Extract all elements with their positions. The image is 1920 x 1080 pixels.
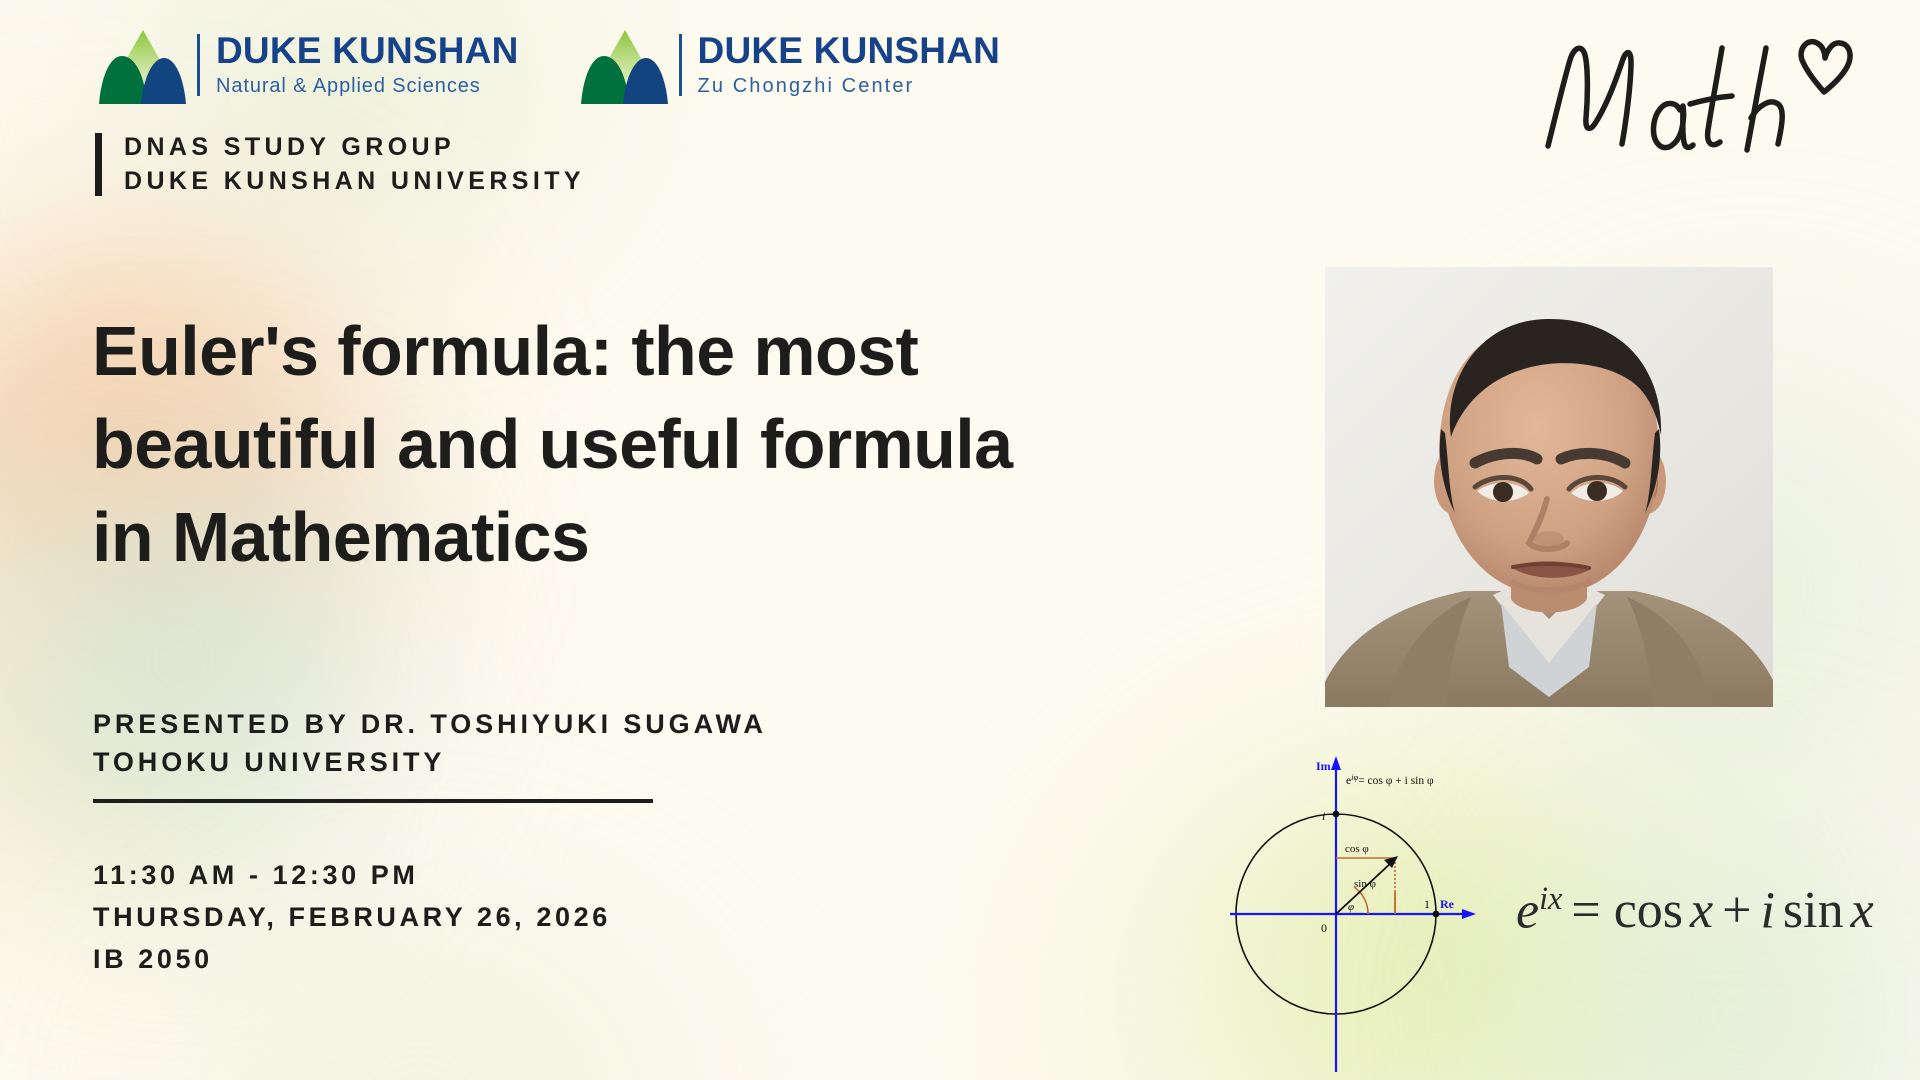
kicker-line-university: DUKE KUNSHAN UNIVERSITY (124, 167, 585, 196)
label-origin: 0 (1321, 921, 1327, 935)
formula-sin-arg: x (1844, 882, 1874, 939)
logo-text-group: DUKE KUNSHAN Natural & Applied Sciences (216, 32, 519, 98)
logo-text-group: DUKE KUNSHAN Zu Chongzhi Center (698, 32, 1001, 98)
kicker-lines: DNAS STUDY GROUP DUKE KUNSHAN UNIVERSITY (124, 133, 585, 196)
presenter-block: PRESENTED BY DR. TOSHIYUKI SUGAWA TOHOKU… (93, 705, 767, 782)
formula-cos: cos (1610, 882, 1683, 939)
formula-equals: = (1562, 882, 1609, 939)
presenter-affiliation: TOHOKU UNIVERSITY (93, 743, 767, 781)
euler-formula: eix=cosx+isinx (1516, 880, 1874, 940)
event-location: IB 2050 (93, 939, 611, 981)
diagram-euler-expression: eiφ= cos φ + i sin φ (1346, 772, 1434, 787)
complex-unit-circle-diagram: Im Re i 1 0 φ cos φ sin φ eiφ= cos φ + i… (1228, 742, 1486, 1072)
formula-cos-arg: x (1683, 882, 1713, 939)
label-angle-phi: φ (1348, 901, 1354, 913)
duke-kunshan-mountain-icon (95, 24, 191, 106)
logo-duke-kunshan-dnas: DUKE KUNSHAN Natural & Applied Sciences (95, 24, 519, 106)
speaker-photo (1325, 267, 1773, 707)
formula-i: i (1760, 882, 1774, 939)
logo-subtitle: Natural & Applied Sciences (216, 75, 519, 98)
logo-row: DUKE KUNSHAN Natural & Applied Sciences (95, 24, 1000, 106)
poster-canvas: DUKE KUNSHAN Natural & Applied Sciences (0, 0, 1920, 1080)
label-unit-i: i (1322, 809, 1325, 823)
logo-subtitle: Zu Chongzhi Center (698, 75, 1001, 98)
svg-text:eiφ= cos φ + i sin φ: eiφ= cos φ + i sin φ (1346, 772, 1434, 787)
event-time: 11:30 AM - 12:30 PM (93, 855, 611, 897)
kicker-block: DNAS STUDY GROUP DUKE KUNSHAN UNIVERSITY (95, 133, 585, 196)
label-sin-phi: sin φ (1354, 878, 1376, 890)
divider-rule (93, 799, 653, 803)
kicker-line-study-group: DNAS STUDY GROUP (124, 133, 585, 162)
axis-label-real: Re (1440, 897, 1455, 911)
handwritten-math-decoration (1530, 18, 1860, 158)
euler-rhs: = cos φ + i sin φ (1358, 775, 1434, 787)
presenter-name: PRESENTED BY DR. TOSHIYUKI SUGAWA (93, 705, 767, 743)
event-date: THURSDAY, FEBRUARY 26, 2026 (93, 897, 611, 939)
logo-divider (197, 34, 200, 96)
page-title: Euler's formula: the most beautiful and … (92, 305, 1052, 584)
label-unit-one: 1 (1424, 897, 1430, 911)
axis-label-imaginary: Im (1316, 759, 1331, 773)
duke-kunshan-mountain-icon (577, 24, 673, 106)
event-details-block: 11:30 AM - 12:30 PM THURSDAY, FEBRUARY 2… (93, 855, 611, 981)
logo-title: DUKE KUNSHAN (698, 32, 1001, 70)
label-cos-phi: cos φ (1345, 843, 1369, 855)
logo-title: DUKE KUNSHAN (216, 32, 519, 70)
formula-plus: + (1713, 882, 1760, 939)
formula-base: e (1516, 882, 1539, 939)
logo-divider (679, 34, 682, 96)
logo-duke-kunshan-zu-chongzhi: DUKE KUNSHAN Zu Chongzhi Center (577, 24, 1001, 106)
formula-sin: sin (1775, 882, 1844, 939)
kicker-accent-bar (95, 133, 102, 196)
formula-exponent: ix (1539, 880, 1562, 916)
